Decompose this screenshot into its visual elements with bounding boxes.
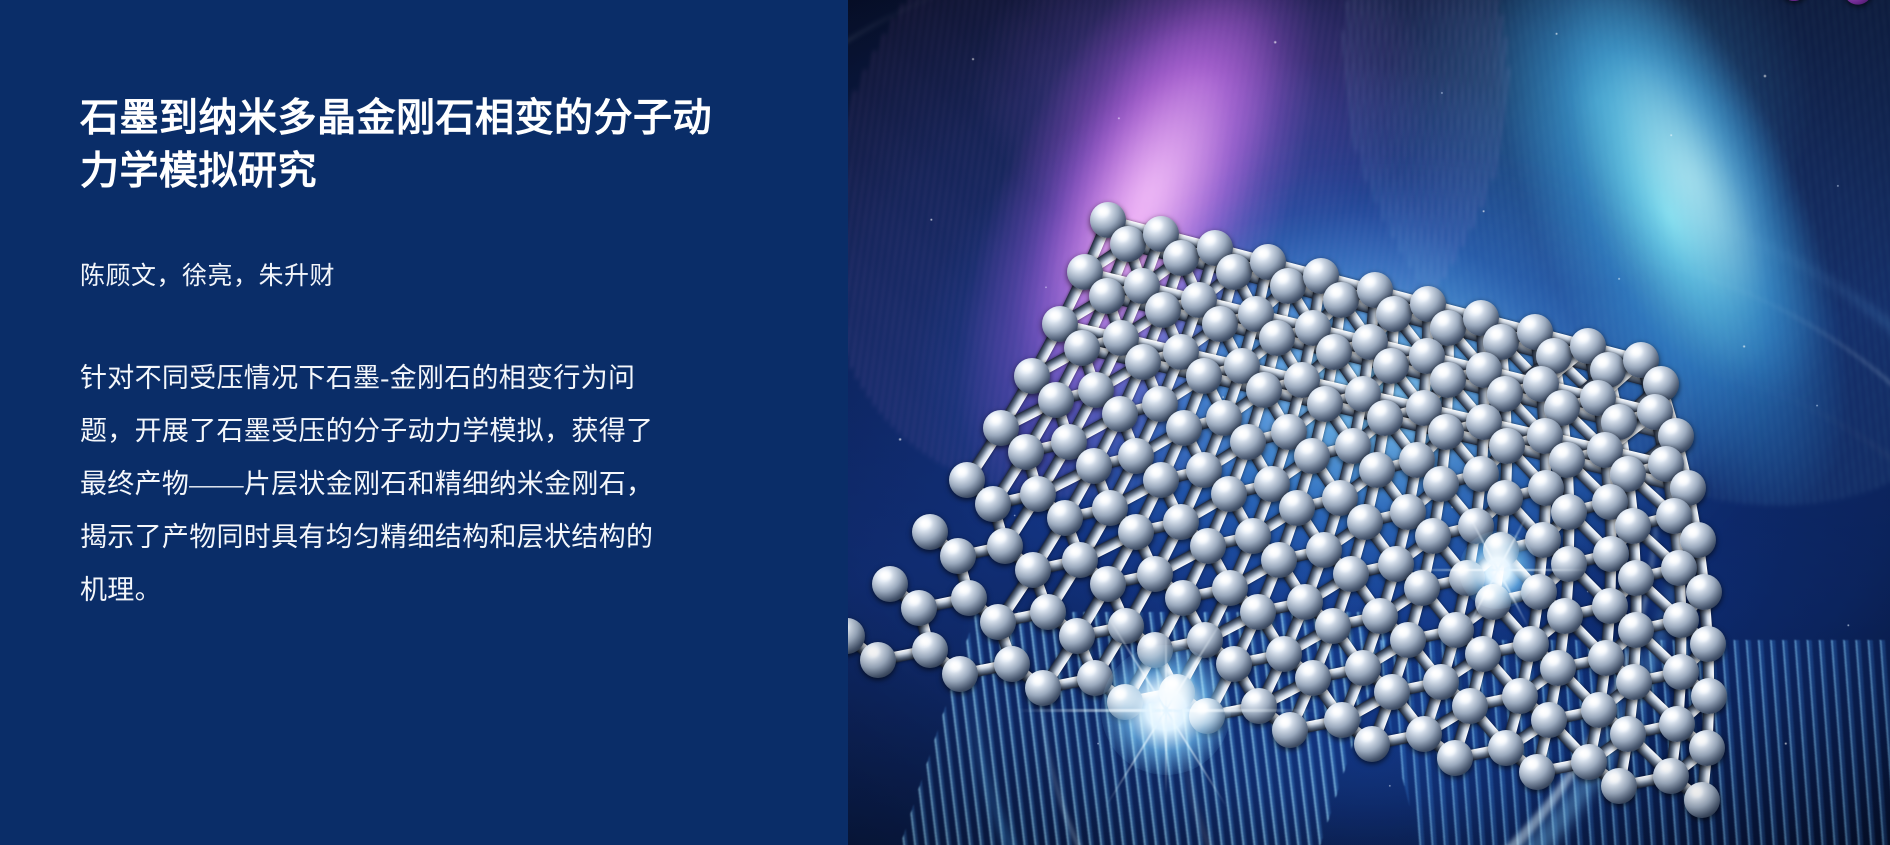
atom-node bbox=[1038, 382, 1074, 418]
atom-node bbox=[1489, 428, 1525, 464]
atom-node bbox=[1690, 626, 1726, 662]
abstract-text: 针对不同受压情况下石墨-金刚石的相变行为问 题，开展了石墨受压的分子动力学模拟，… bbox=[80, 352, 770, 617]
atom-node bbox=[1163, 240, 1199, 276]
atom-node bbox=[1166, 410, 1202, 446]
poster-root: 石墨到纳米多晶金刚石相变的分子动 力学模拟研究 陈顾文，徐亮，朱升财 针对不同受… bbox=[0, 0, 1890, 845]
atom-node bbox=[1616, 664, 1652, 700]
atom-node bbox=[912, 632, 948, 668]
star-flare bbox=[1016, 560, 1316, 845]
atom-node bbox=[1190, 528, 1226, 564]
atom-node bbox=[1102, 396, 1138, 432]
atom-node bbox=[1581, 692, 1617, 728]
atom-node bbox=[1076, 448, 1112, 484]
atom-node bbox=[975, 486, 1011, 522]
atom-node bbox=[872, 566, 908, 602]
atom-node bbox=[1333, 556, 1369, 592]
author-list: 陈顾文，徐亮，朱升财 bbox=[80, 258, 335, 296]
atom-node bbox=[951, 580, 987, 616]
atom-node bbox=[1008, 434, 1044, 470]
atom-node bbox=[1374, 674, 1410, 710]
atom-node bbox=[1359, 452, 1395, 488]
atom-node bbox=[1437, 740, 1473, 776]
atom-node bbox=[1531, 702, 1567, 738]
atom-node bbox=[1423, 664, 1459, 700]
text-panel: 石墨到纳米多晶金刚石相变的分子动 力学模拟研究 陈顾文，徐亮，朱升财 针对不同受… bbox=[0, 0, 848, 845]
atom-node bbox=[1345, 650, 1381, 686]
atom-node bbox=[1323, 282, 1359, 318]
atom-node bbox=[1610, 716, 1646, 752]
atom-node bbox=[1270, 268, 1306, 304]
atom-node bbox=[1684, 782, 1720, 818]
atom-node bbox=[1502, 678, 1538, 714]
atom-node bbox=[1118, 514, 1154, 550]
atom-node bbox=[940, 538, 976, 574]
atom-node bbox=[1571, 744, 1607, 780]
atom-node bbox=[1653, 758, 1689, 794]
flare-ray bbox=[1165, 625, 1167, 795]
atom-node bbox=[1324, 702, 1360, 738]
atom-node bbox=[1689, 730, 1725, 766]
atom-node bbox=[860, 642, 896, 678]
illustration-panel bbox=[848, 0, 1890, 845]
atom-node bbox=[1125, 344, 1161, 380]
atom-node bbox=[1691, 678, 1727, 714]
atom-node bbox=[1089, 278, 1125, 314]
atom-node bbox=[1347, 504, 1383, 540]
atom-node bbox=[1428, 414, 1464, 450]
atom-node bbox=[1186, 358, 1222, 394]
atom-node bbox=[1406, 716, 1442, 752]
atom-node bbox=[1307, 386, 1343, 422]
page-title: 石墨到纳米多晶金刚石相变的分子动 力学模拟研究 bbox=[80, 92, 760, 198]
atom-node bbox=[1110, 226, 1146, 262]
star-flare bbox=[1408, 480, 1588, 660]
atom-node bbox=[1047, 500, 1083, 536]
atom-node bbox=[1519, 754, 1555, 790]
atom-node bbox=[980, 604, 1016, 640]
